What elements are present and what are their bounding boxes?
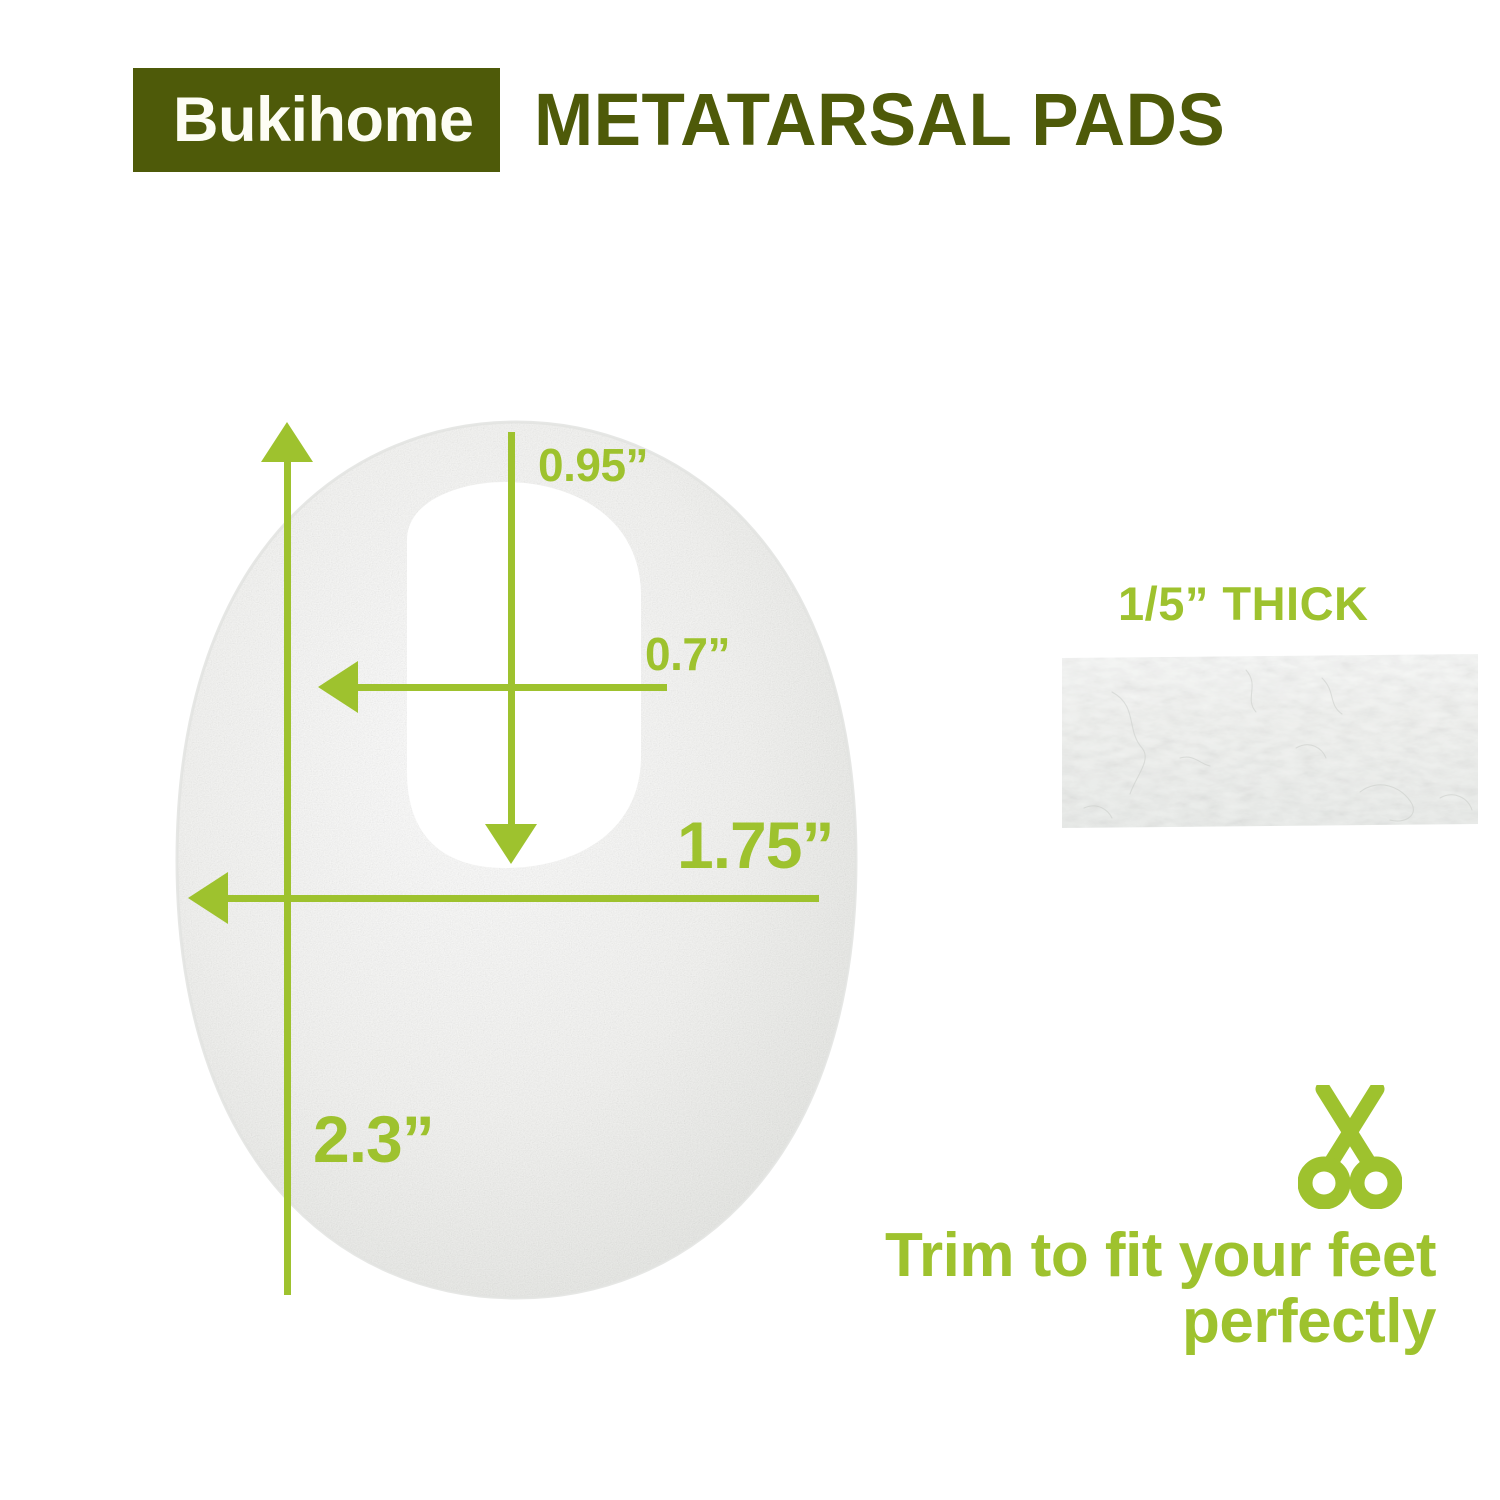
pad-height-line xyxy=(284,460,291,1295)
hole-width-line xyxy=(357,684,667,691)
pad-height-label: 2.3” xyxy=(313,1106,434,1172)
hole-height-label: 0.95” xyxy=(538,442,648,488)
page-title: METATARSAL PADS xyxy=(534,83,1225,157)
thickness-block: 1/5” THICK xyxy=(1060,580,1480,832)
brand-name: Bukihome xyxy=(173,89,474,152)
pad-height-arrowhead xyxy=(261,422,313,462)
header: Bukihome METATARSAL PADS xyxy=(133,68,1254,172)
thickness-strip-image xyxy=(1060,652,1480,832)
trim-block: Trim to fit your feet perfectly xyxy=(820,1085,1440,1356)
pad-diagram: 2.3” 1.75” 0.95” 0.7” xyxy=(150,400,880,1320)
hole-height-line xyxy=(508,432,515,852)
thickness-label: 1/5” THICK xyxy=(1118,580,1480,627)
product-infographic: Bukihome METATARSAL PADS xyxy=(0,0,1500,1500)
brand-badge: Bukihome xyxy=(133,68,500,172)
pad-width-arrowhead xyxy=(188,872,228,924)
hole-height-arrowhead xyxy=(485,824,537,864)
trim-message-line1: Trim to fit your feet xyxy=(885,1221,1436,1290)
trim-message: Trim to fit your feet perfectly xyxy=(820,1223,1440,1356)
trim-message-line2: perfectly xyxy=(820,1289,1436,1355)
hole-width-label: 0.7” xyxy=(645,631,730,677)
hole-width-arrowhead xyxy=(318,661,358,713)
pad-width-label: 1.75” xyxy=(677,812,833,878)
scissors-icon xyxy=(1298,1085,1402,1209)
pad-width-line xyxy=(227,895,819,902)
